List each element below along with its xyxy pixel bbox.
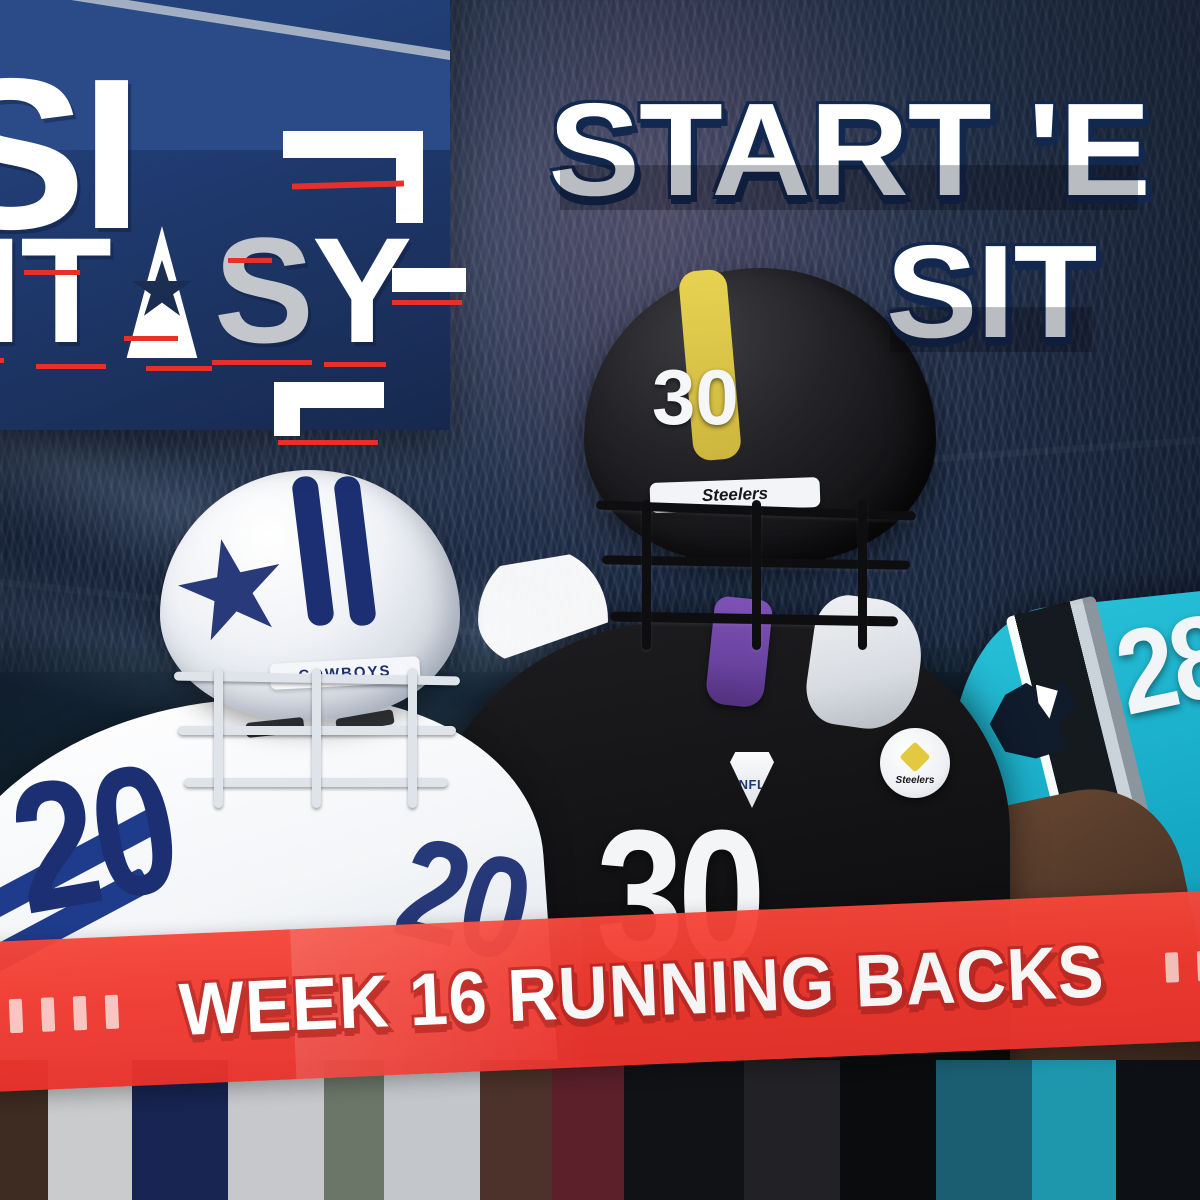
- tick-mark: [1165, 952, 1179, 983]
- logo-corner-accent: [278, 440, 378, 445]
- headline-line-1: START 'E: [560, 84, 1200, 216]
- logo-corner-mark: [274, 382, 300, 436]
- tick-mark: [9, 999, 23, 1034]
- cowboys-helmet: COWBOYS: [150, 470, 480, 770]
- logo-dash-accent: [324, 362, 386, 367]
- banner-ticks-right: [1165, 950, 1200, 983]
- tick-mark: [41, 997, 55, 1032]
- logo-dash-accent: [228, 258, 272, 263]
- logo-letter-s: S: [214, 223, 312, 358]
- logo-dash-accent: [36, 364, 106, 369]
- logo-dash-accent: [24, 270, 80, 275]
- letter-foot-accent: [51, 308, 77, 352]
- logo-dash-mark: [392, 268, 466, 292]
- tick-mark: [73, 996, 87, 1031]
- headline-text-start-em: START 'E: [548, 84, 1149, 216]
- steelers-helmet-number: 30: [652, 352, 739, 443]
- banner-ticks-left: [0, 995, 119, 1035]
- logo-letter-t: T: [20, 223, 110, 358]
- steelers-facemask: [596, 496, 926, 686]
- logo-fantasy-text: N T S Y: [0, 218, 410, 358]
- headline-word-wrap: SIT: [890, 226, 1092, 358]
- logo-dash-accent-red: [392, 300, 462, 305]
- logo-dash-accent: [124, 336, 178, 341]
- steelers-diamond-icon: [899, 742, 930, 773]
- fantasy-football-graphic: 28 30 NFL Steelers 30 Steelers: [0, 0, 1200, 1200]
- panther-logo-icon: [984, 676, 1080, 762]
- headline-block: START 'E SIT: [560, 84, 1200, 358]
- headline-text-sit-em: SIT: [886, 226, 1096, 358]
- headline-line-2: SIT: [890, 226, 1200, 358]
- headline-word-wrap: START 'E: [560, 84, 1138, 216]
- letter-foot-accent: [347, 308, 373, 352]
- logo-dash-accent: [146, 366, 212, 371]
- tick-mark: [1197, 951, 1200, 982]
- panther-head-shape: [984, 676, 1080, 762]
- cowboys-facemask: [174, 666, 462, 816]
- logo-letter-n: N: [0, 223, 20, 358]
- steelers-logo-patch: Steelers: [880, 728, 950, 798]
- logo-dash-accent: [0, 358, 4, 363]
- steelers-patch-label: Steelers: [880, 775, 950, 786]
- banner-title: WEEK 16 RUNNING BACKS: [178, 928, 1107, 1052]
- tick-mark: [105, 995, 119, 1030]
- logo-dash-accent: [212, 360, 312, 365]
